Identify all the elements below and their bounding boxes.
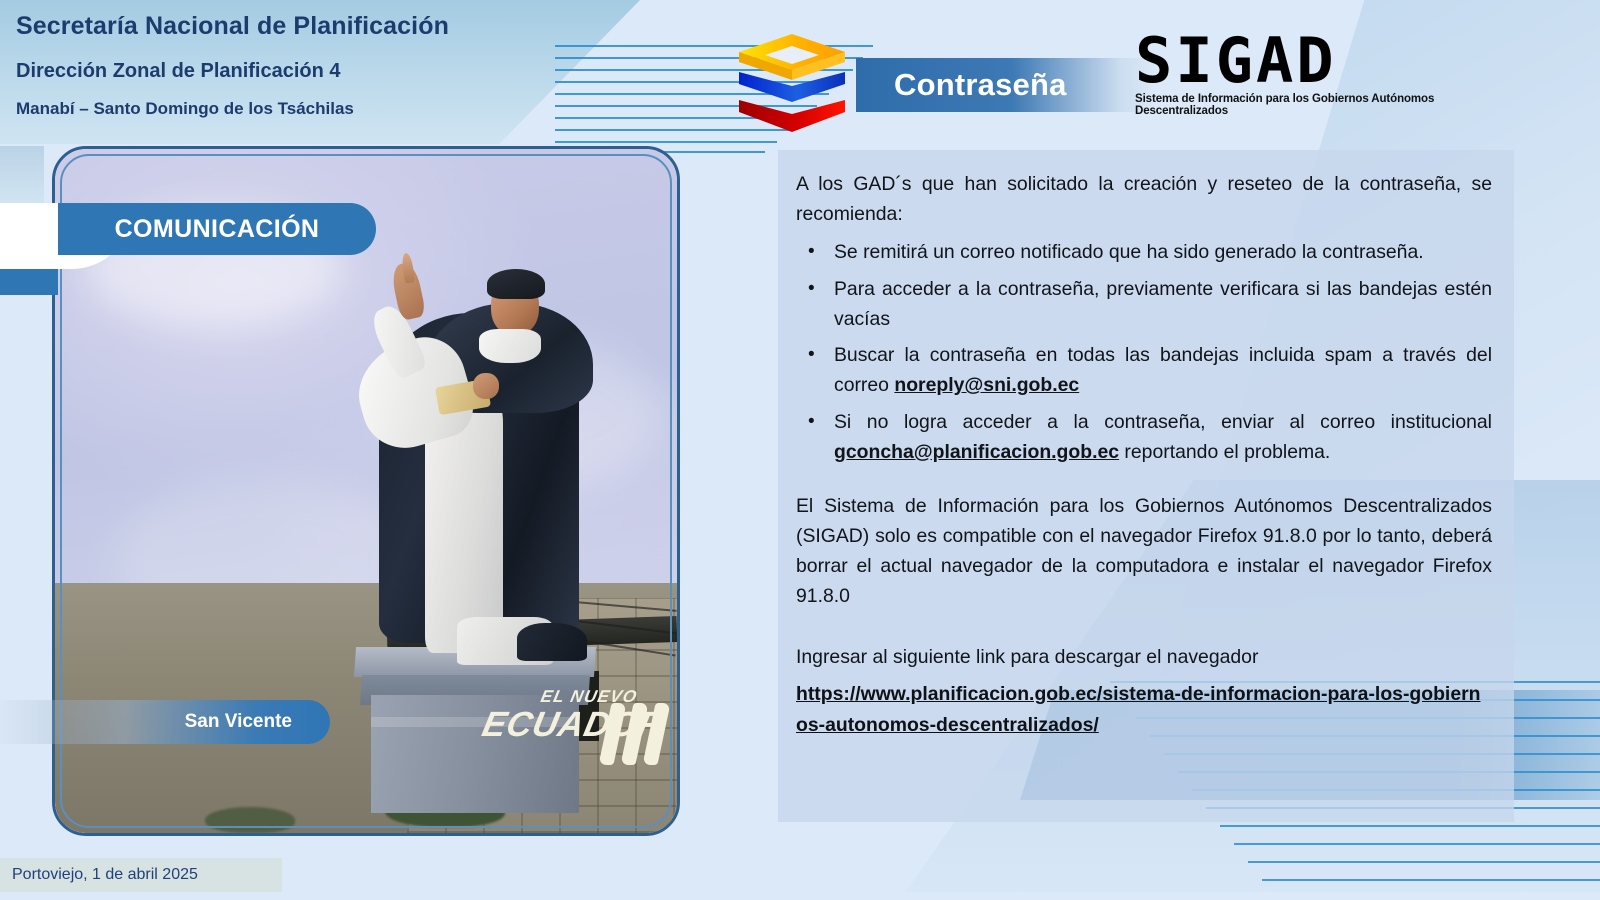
statue-hand <box>473 373 499 399</box>
browser-compatibility-paragraph: El Sistema de Información para los Gobie… <box>796 492 1492 612</box>
pedestal-body <box>371 695 579 813</box>
bullet-text: Si no logra acceder a la contraseña, env… <box>834 411 1492 433</box>
list-item: Se remitirá un correo notificado que ha … <box>796 238 1492 268</box>
photo-caption-bar: San Vicente <box>0 700 330 744</box>
bush <box>205 807 295 833</box>
org-region: Manabí – Santo Domingo de los Tsáchilas <box>16 98 640 121</box>
content-panel: A los GAD´s que han solicitado la creaci… <box>778 150 1514 822</box>
pedestal-band <box>371 717 579 727</box>
statue-collar <box>479 329 541 363</box>
org-title: Secretaría Nacional de Planificación <box>16 10 640 44</box>
list-item: Si no logra acceder a la contraseña, env… <box>796 408 1492 468</box>
tab-blue-block <box>0 269 58 295</box>
header-corner-accent <box>0 146 44 206</box>
download-link-intro: Ingresar al siguiente link para descarga… <box>796 643 1492 673</box>
page-title-chip: Contraseña <box>856 58 1156 112</box>
footer-text: Portoviejo, 1 de abril 2025 <box>12 866 198 884</box>
list-item: Para acceder a la contraseña, previament… <box>796 275 1492 335</box>
org-subtitle: Dirección Zonal de Planificación 4 <box>16 58 640 85</box>
sigad-wordmark: SIGAD <box>1135 32 1495 91</box>
page-title: Contraseña <box>856 67 1067 103</box>
bullet-text: Para acceder a la contraseña, previament… <box>834 278 1492 330</box>
statue-hair <box>487 269 545 299</box>
statue-shoe <box>517 623 587 661</box>
section-tab-comunicacion: COMUNICACIÓN <box>58 203 376 255</box>
section-tab-label: COMUNICACIÓN <box>115 215 320 244</box>
recommendation-list: Se remitirá un correo notificado que ha … <box>796 238 1492 468</box>
bullet-tail: reportando el problema. <box>1119 441 1330 463</box>
statue-figure <box>303 255 633 675</box>
download-url-link[interactable]: https://www.planificacion.gob.ec/sistema… <box>796 679 1492 741</box>
footer-location-date: Portoviejo, 1 de abril 2025 <box>0 858 282 892</box>
sigad-tagline: Sistema de Información para los Gobierno… <box>1135 93 1495 117</box>
email-link-gconcha[interactable]: gconcha@planificacion.gob.ec <box>834 441 1119 463</box>
bullet-text: Se remitirá un correo notificado que ha … <box>834 241 1424 263</box>
lead-paragraph: A los GAD´s que han solicitado la creaci… <box>796 170 1492 230</box>
email-link-noreply[interactable]: noreply@sni.gob.ec <box>894 374 1079 396</box>
slide-root: Secretaría Nacional de Planificación Dir… <box>0 0 1600 900</box>
list-item: Buscar la contraseña en todas las bandej… <box>796 341 1492 401</box>
photo-caption-label: San Vicente <box>185 711 292 733</box>
footer-strip <box>0 892 1600 900</box>
header-banner: Secretaría Nacional de Planificación Dir… <box>0 0 640 144</box>
ecuador-stacked-cubes-logo <box>733 30 851 138</box>
sigad-logo: SIGAD Sistema de Información para los Go… <box>1135 32 1495 132</box>
